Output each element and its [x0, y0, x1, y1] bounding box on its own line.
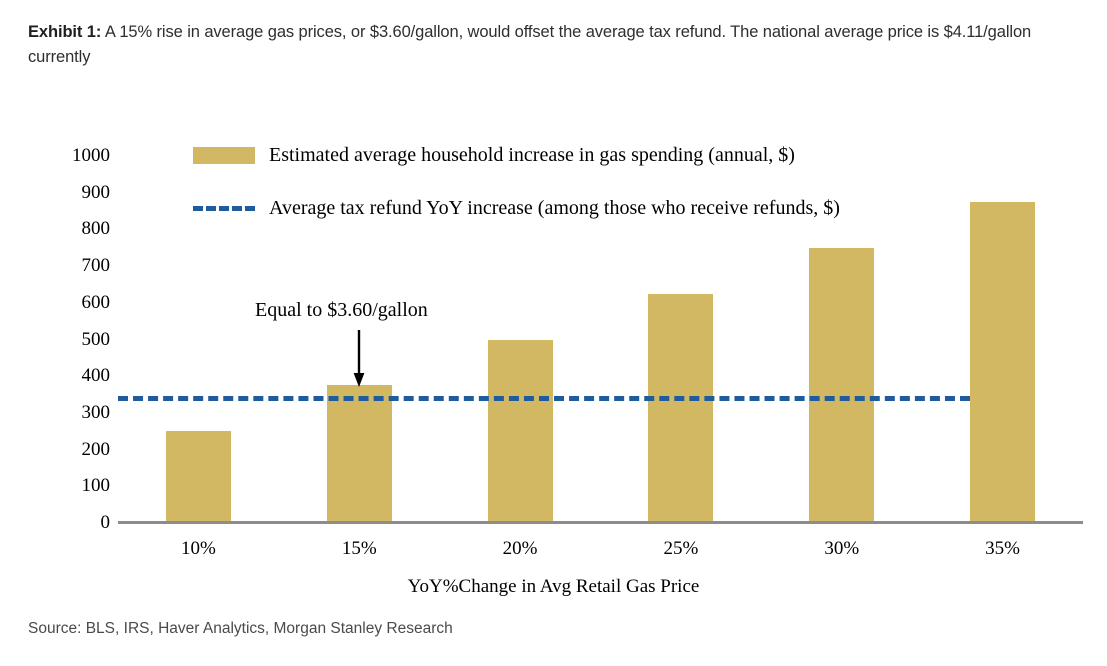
bars-layer — [0, 0, 1107, 523]
chart-canvas: 01002003004005006007008009001000 10%15%2… — [0, 0, 1107, 666]
legend-item-bars: Estimated average household increase in … — [193, 138, 840, 172]
x-tick-label: 25% — [621, 538, 741, 560]
x-tick-label: 20% — [460, 538, 580, 560]
source-note: Source: BLS, IRS, Haver Analytics, Morga… — [28, 620, 453, 638]
bar-15[interactable] — [327, 385, 392, 523]
x-tick-label: 10% — [138, 538, 258, 560]
legend-swatch-icon — [193, 147, 255, 164]
bar-30[interactable] — [809, 248, 874, 523]
refund-reference-line — [118, 396, 970, 401]
x-tick-label: 35% — [943, 538, 1063, 560]
annotation-arrow-icon — [352, 330, 366, 388]
x-tick-label: 15% — [299, 538, 419, 560]
annotation-label: Equal to $3.60/gallon — [255, 299, 428, 322]
legend-dashed-line-icon — [193, 206, 255, 211]
legend-item-refund-line: Average tax refund YoY increase (among t… — [193, 191, 840, 225]
x-tick-label: 30% — [782, 538, 902, 560]
x-axis-line — [118, 521, 1083, 524]
bar-25[interactable] — [648, 294, 713, 523]
legend-label-refund-line: Average tax refund YoY increase (among t… — [269, 197, 840, 220]
bar-10[interactable] — [166, 431, 231, 523]
chart-legend: Estimated average household increase in … — [193, 138, 840, 244]
bar-35[interactable] — [970, 202, 1035, 523]
x-axis-title: YoY%Change in Avg Retail Gas Price — [0, 576, 1107, 598]
bar-20[interactable] — [488, 340, 553, 524]
legend-label-bars: Estimated average household increase in … — [269, 144, 795, 167]
